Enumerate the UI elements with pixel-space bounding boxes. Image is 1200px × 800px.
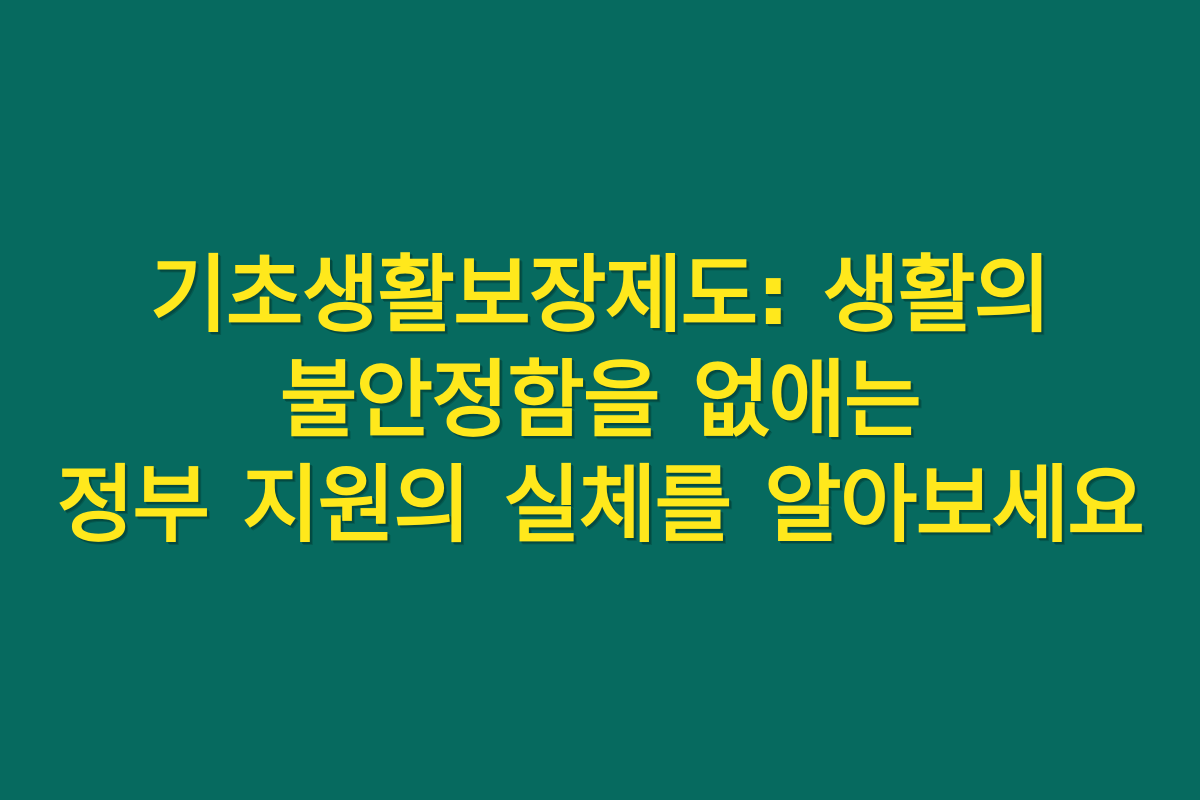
banner-canvas: 기초생활보장제도: 생활의 불안정함을 없애는 정부 지원의 실체를 알아보세요 xyxy=(0,0,1200,800)
headline-line-1: 기초생활보장제도: 생활의 xyxy=(10,243,1190,348)
headline: 기초생활보장제도: 생활의 불안정함을 없애는 정부 지원의 실체를 알아보세요 xyxy=(10,243,1190,558)
headline-line-2: 불안정함을 없애는 xyxy=(10,348,1190,453)
headline-line-3: 정부 지원의 실체를 알아보세요 xyxy=(10,453,1190,558)
